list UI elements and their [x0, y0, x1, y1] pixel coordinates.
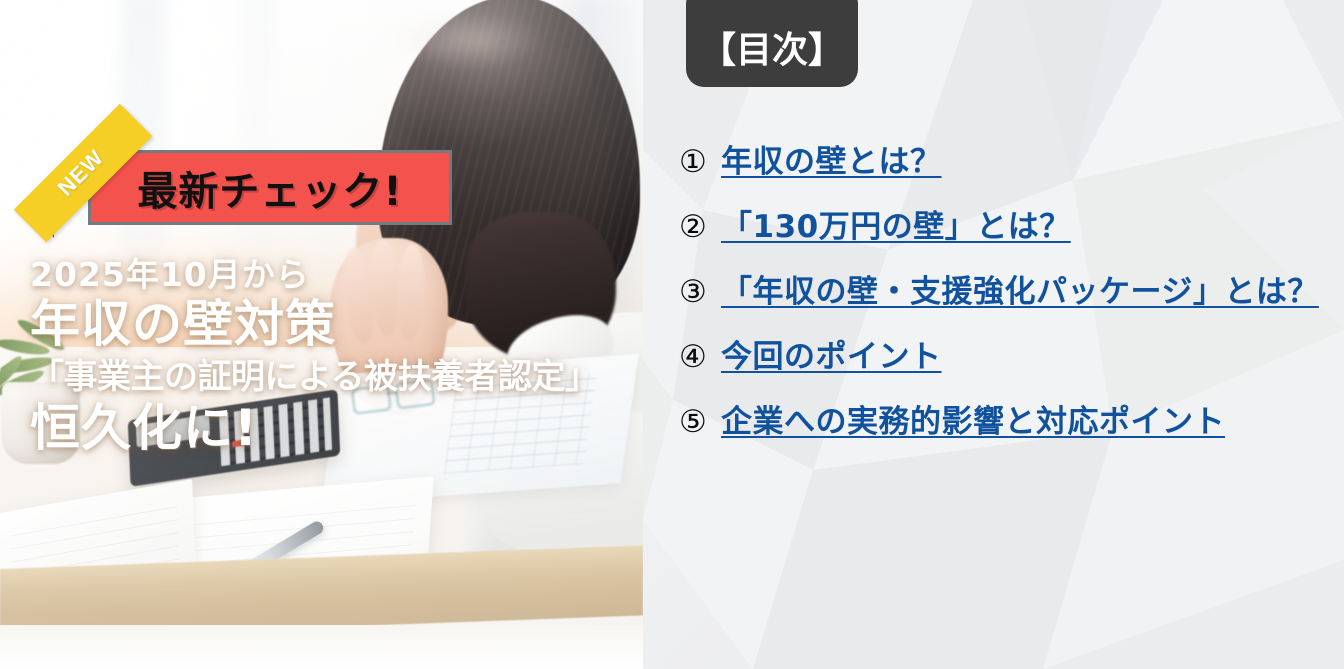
hero-headline: 2025年10月から 年収の壁対策 「事業主の証明による被扶養者認定」 恒久化に… [30, 256, 640, 457]
toc-item-4[interactable]: ④ 今回のポイント [679, 335, 1334, 379]
latest-check-callout: 最新チェック! [88, 150, 452, 225]
hero-banner: 最新チェック! NEW 2025年10月から 年収の壁対策 「事業主の証明による… [0, 0, 643, 669]
toc-badge: 【目次】 [686, 0, 858, 87]
hero-headline-line-1: 2025年10月から [30, 256, 640, 294]
toc-list: ① 年収の壁とは？ ② 「130万円の壁」とは？ ③ 「年収の壁・支援強化パッケ… [679, 140, 1334, 465]
toc-marker-3: ③ [679, 270, 721, 314]
toc-link-1[interactable]: 年収の壁とは？ [721, 140, 942, 184]
page-root: 最新チェック! NEW 2025年10月から 年収の壁対策 「事業主の証明による… [0, 0, 1344, 669]
new-ribbon: NEW [30, 132, 140, 242]
latest-check-label: 最新チェック! [137, 159, 402, 217]
toc-item-5[interactable]: ⑤ 企業への実務的影響と対応ポイント [679, 400, 1334, 444]
hair-highlight [390, 12, 540, 68]
toc-marker-2: ② [679, 205, 721, 249]
toc-item-2[interactable]: ② 「130万円の壁」とは？ [679, 205, 1334, 249]
hero-headline-line-3: 「事業主の証明による被扶養者認定」 [30, 357, 640, 398]
toc-marker-5: ⑤ [679, 400, 721, 444]
hero-headline-line-2: 年収の壁対策 [30, 296, 640, 353]
hero-headline-line-4: 恒久化に! [30, 400, 640, 457]
toc-badge-label: 【目次】 [700, 21, 844, 73]
toc-link-2[interactable]: 「130万円の壁」とは？ [721, 205, 1071, 249]
toc-marker-1: ① [679, 140, 721, 184]
toc-marker-4: ④ [679, 335, 721, 379]
toc-item-1[interactable]: ① 年収の壁とは？ [679, 140, 1334, 184]
table-of-contents-panel: 【目次】 ① 年収の壁とは？ ② 「130万円の壁」とは？ ③ 「年収の壁・支援… [643, 0, 1344, 669]
toc-link-5[interactable]: 企業への実務的影響と対応ポイント [721, 400, 1225, 444]
desk-front-panel [0, 625, 643, 669]
toc-item-3[interactable]: ③ 「年収の壁・支援強化パッケージ」とは？ [679, 270, 1334, 314]
toc-link-4[interactable]: 今回のポイント [721, 335, 942, 379]
toc-link-3[interactable]: 「年収の壁・支援強化パッケージ」とは？ [721, 270, 1319, 314]
window-pane-secondary [240, 0, 274, 280]
